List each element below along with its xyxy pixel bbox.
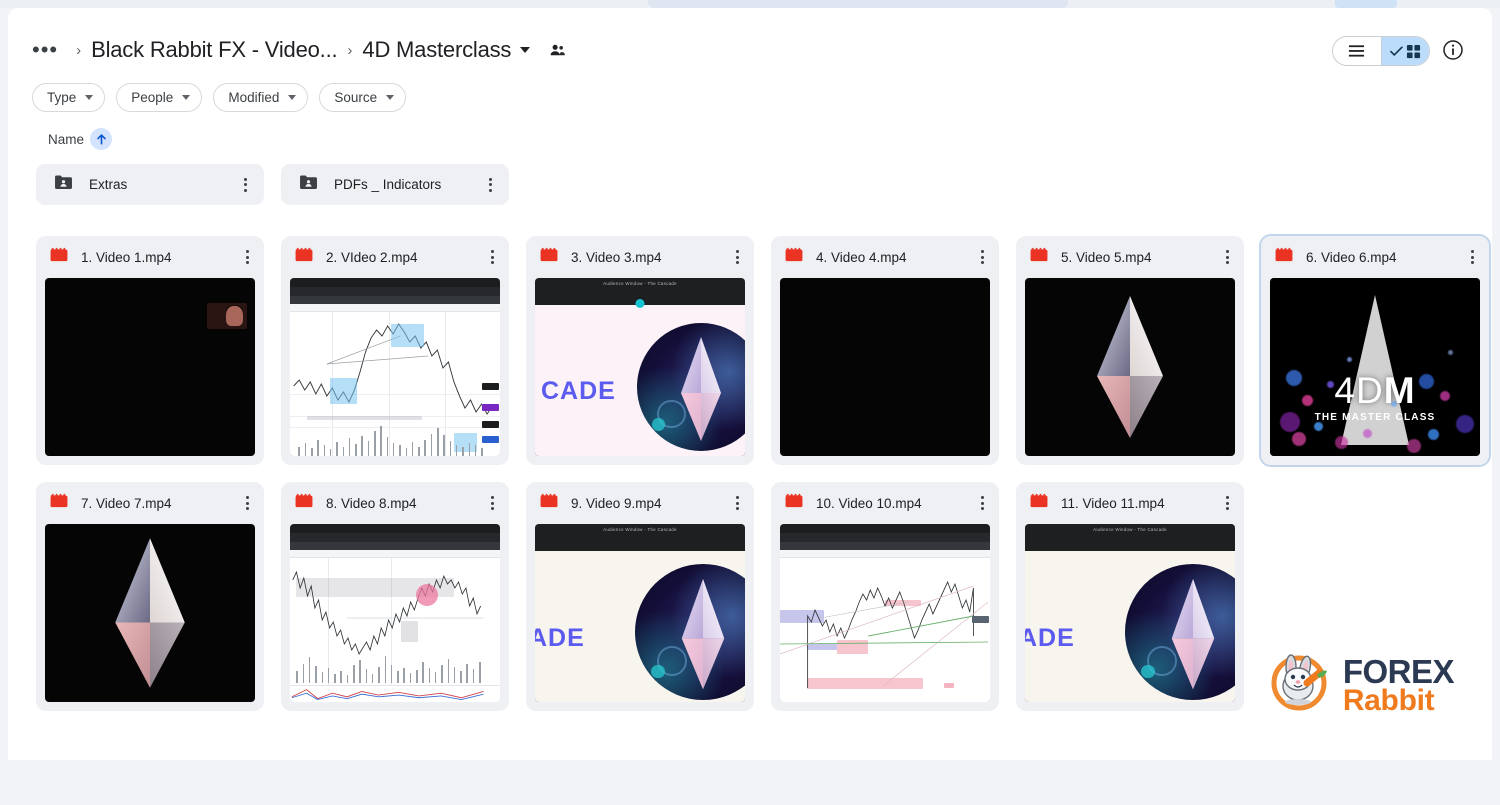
- file-card[interactable]: 9. Video 9.mp4 Audience Window - The Cas…: [526, 482, 754, 711]
- presentation-slide: Audience Window - The Cascade ADE: [1025, 524, 1235, 702]
- filter-chip-type[interactable]: Type: [32, 83, 105, 112]
- file-more-options-button[interactable]: [1218, 250, 1236, 264]
- file-name: 5. Video 5.mp4: [1061, 250, 1218, 265]
- file-thumbnail: [780, 278, 990, 456]
- file-grid: 1. Video 1.mp4: [36, 236, 1496, 711]
- slide-word: ADE: [535, 624, 585, 653]
- watermark-brand-secondary: Rabbit: [1343, 687, 1454, 716]
- folder-card-extras[interactable]: Extras: [36, 164, 264, 205]
- video-file-icon: [50, 493, 68, 513]
- file-card-header: 1. Video 1.mp4: [36, 236, 264, 278]
- breadcrumb-parent[interactable]: Black Rabbit FX - Video...: [91, 37, 337, 63]
- filter-chip-modified-label: Modified: [228, 90, 279, 105]
- shared-folder-icon: [54, 174, 73, 195]
- file-more-options-button[interactable]: [973, 496, 991, 510]
- file-name: 10. Video 10.mp4: [816, 496, 973, 511]
- file-more-options-button[interactable]: [483, 496, 501, 510]
- file-card-header: 3. Video 3.mp4: [526, 236, 754, 278]
- people-icon[interactable]: [548, 41, 567, 60]
- filter-chip-people[interactable]: People: [116, 83, 202, 112]
- file-card-header: 6. Video 6.mp4: [1261, 236, 1489, 278]
- diamond-graphic: [1025, 278, 1235, 456]
- masterclass-title-card: 4DM THE MASTER CLASS: [1270, 278, 1480, 456]
- forex-rabbit-watermark: FOREX Rabbit: [1269, 653, 1454, 718]
- presentation-slide: Audience Window - The Cascade CADE: [535, 278, 745, 456]
- file-more-options-button[interactable]: [238, 250, 256, 264]
- folder-more-options-button[interactable]: [481, 178, 499, 192]
- presentation-slide: Audience Window - The Cascade ADE: [535, 524, 745, 702]
- slide-word: ADE: [1025, 624, 1075, 653]
- page-bottom-spacer: [8, 760, 1492, 805]
- file-name: 6. Video 6.mp4: [1306, 250, 1463, 265]
- check-icon: [1390, 46, 1403, 57]
- file-card-header: 5. Video 5.mp4: [1016, 236, 1244, 278]
- browser-tab-hint: [648, 0, 1068, 8]
- file-card[interactable]: 3. Video 3.mp4 Audience Window - The Cas…: [526, 236, 754, 465]
- webcam-pip: [207, 303, 247, 329]
- chevron-down-icon[interactable]: [520, 47, 530, 53]
- file-card-header: 9. Video 9.mp4: [526, 482, 754, 524]
- slide-window-caption: Audience Window - The Cascade: [535, 281, 745, 286]
- trading-chart-screenshot: [780, 524, 990, 702]
- browser-top-strip: [0, 0, 1500, 8]
- file-browser-page: ••• › Black Rabbit FX - Video... › 4D Ma…: [0, 0, 1500, 805]
- chevron-down-icon: [386, 95, 394, 100]
- shared-folder-icon: [299, 174, 318, 195]
- breadcrumb-overflow-button[interactable]: •••: [24, 36, 66, 64]
- diamond-logo-orb: [1125, 564, 1235, 700]
- filter-chip-source[interactable]: Source: [319, 83, 406, 112]
- file-more-options-button[interactable]: [1463, 250, 1481, 264]
- file-name: 8. Video 8.mp4: [326, 496, 483, 511]
- list-view-button[interactable]: [1333, 37, 1381, 65]
- chevron-down-icon: [182, 95, 190, 100]
- header-bar: ••• › Black Rabbit FX - Video... › 4D Ma…: [24, 26, 1476, 74]
- video-file-icon: [1275, 247, 1293, 267]
- annotation-circle: [416, 584, 438, 606]
- breadcrumb-separator-1: ›: [76, 42, 81, 59]
- slide-window-caption: Audience Window - The Cascade: [1025, 527, 1235, 532]
- file-thumbnail: [1025, 278, 1235, 456]
- slide-word: CADE: [541, 377, 616, 406]
- info-icon: [1442, 39, 1464, 61]
- app-shell: ••• › Black Rabbit FX - Video... › 4D Ma…: [8, 8, 1492, 760]
- file-card-header: 11. Video 11.mp4: [1016, 482, 1244, 524]
- video-file-icon: [785, 493, 803, 513]
- file-thumbnail: Audience Window - The Cascade ADE: [1025, 524, 1235, 702]
- folder-card-pdfs-indicators[interactable]: PDFs _ Indicators: [281, 164, 509, 205]
- trading-chart-screenshot: [290, 524, 500, 702]
- folder-more-options-button[interactable]: [236, 178, 254, 192]
- video-file-icon: [785, 247, 803, 267]
- file-more-options-button[interactable]: [728, 496, 746, 510]
- video-file-icon: [50, 247, 68, 267]
- cursor-dot: [636, 299, 645, 308]
- file-more-options-button[interactable]: [483, 250, 501, 264]
- file-card-header: 4. Video 4.mp4: [771, 236, 999, 278]
- file-name: 2. VIdeo 2.mp4: [326, 250, 483, 265]
- diamond-logo-orb: [637, 323, 745, 451]
- file-thumbnail: [45, 524, 255, 702]
- arrow-up-icon[interactable]: [90, 128, 112, 150]
- chevron-down-icon: [288, 95, 296, 100]
- diamond-logo-orb: [635, 564, 745, 700]
- file-name: 1. Video 1.mp4: [81, 250, 238, 265]
- filter-chip-people-label: People: [131, 90, 173, 105]
- file-thumbnail: [45, 278, 255, 456]
- file-thumbnail: [290, 524, 500, 702]
- video-file-icon: [1030, 247, 1048, 267]
- folder-name: PDFs _ Indicators: [334, 177, 481, 192]
- file-name: 3. Video 3.mp4: [571, 250, 728, 265]
- file-card[interactable]: 6. Video 6.mp4: [1261, 236, 1489, 465]
- folder-name: Extras: [89, 177, 236, 192]
- file-card-header: 8. Video 8.mp4: [281, 482, 509, 524]
- grid-view-button[interactable]: [1381, 37, 1429, 65]
- filter-chip-modified[interactable]: Modified: [213, 83, 308, 112]
- masterclass-subtitle: THE MASTER CLASS: [1274, 412, 1476, 423]
- file-thumbnail: [290, 278, 500, 456]
- slide-window-caption: Audience Window - The Cascade: [535, 527, 745, 532]
- info-button[interactable]: [1442, 39, 1464, 61]
- file-card[interactable]: 10. Video 10.mp4: [771, 482, 999, 711]
- video-file-icon: [295, 493, 313, 513]
- filter-chip-type-label: Type: [47, 90, 76, 105]
- watermark-brand-primary: FOREX: [1343, 656, 1454, 687]
- video-file-icon: [295, 247, 313, 267]
- view-mode-toggle[interactable]: [1332, 36, 1430, 66]
- breadcrumb-separator-2: ›: [347, 42, 352, 59]
- sort-control[interactable]: Name: [48, 128, 112, 150]
- file-card-header: 2. VIdeo 2.mp4: [281, 236, 509, 278]
- file-name: 9. Video 9.mp4: [571, 496, 728, 511]
- file-thumbnail: 4DM THE MASTER CLASS: [1270, 278, 1480, 456]
- file-card[interactable]: 4. Video 4.mp4: [771, 236, 999, 465]
- list-view-icon: [1348, 44, 1365, 58]
- file-card[interactable]: 5. Video 5.mp4: [1016, 236, 1244, 465]
- file-thumbnail: Audience Window - The Cascade CADE: [535, 278, 745, 456]
- file-more-options-button[interactable]: [728, 250, 746, 264]
- file-card[interactable]: 7. Video 7.mp4: [36, 482, 264, 711]
- video-file-icon: [540, 493, 558, 513]
- rabbit-mascot-icon: [1269, 653, 1333, 718]
- file-more-options-button[interactable]: [973, 250, 991, 264]
- file-card-header: 10. Video 10.mp4: [771, 482, 999, 524]
- chevron-down-icon: [85, 95, 93, 100]
- file-more-options-button[interactable]: [1218, 496, 1236, 510]
- file-card[interactable]: 11. Video 11.mp4 Audience Window - The C…: [1016, 482, 1244, 711]
- file-name: 11. Video 11.mp4: [1061, 496, 1218, 511]
- masterclass-title: 4DM: [1274, 370, 1476, 412]
- folder-row: Extras PDFs _ Indicators: [36, 164, 509, 205]
- trading-chart-screenshot: [290, 278, 500, 456]
- file-name: 7. Video 7.mp4: [81, 496, 238, 511]
- filter-chip-source-label: Source: [334, 90, 377, 105]
- video-file-icon: [1030, 493, 1048, 513]
- file-card[interactable]: 2. VIdeo 2.mp4: [281, 236, 509, 465]
- video-file-icon: [540, 247, 558, 267]
- file-thumbnail: Audience Window - The Cascade ADE: [535, 524, 745, 702]
- file-card[interactable]: 8. Video 8.mp4: [281, 482, 509, 711]
- file-more-options-button[interactable]: [238, 496, 256, 510]
- file-name: 4. Video 4.mp4: [816, 250, 973, 265]
- file-card-header: 7. Video 7.mp4: [36, 482, 264, 524]
- sort-label: Name: [48, 132, 84, 147]
- breadcrumb-current[interactable]: 4D Masterclass: [362, 37, 511, 63]
- file-thumbnail: [780, 524, 990, 702]
- grid-view-icon: [1406, 44, 1421, 59]
- browser-tab-hint-secondary: [1335, 0, 1397, 8]
- filter-chip-row: Type People Modified Source: [32, 83, 406, 112]
- file-card[interactable]: 1. Video 1.mp4: [36, 236, 264, 465]
- diamond-graphic: [45, 524, 255, 702]
